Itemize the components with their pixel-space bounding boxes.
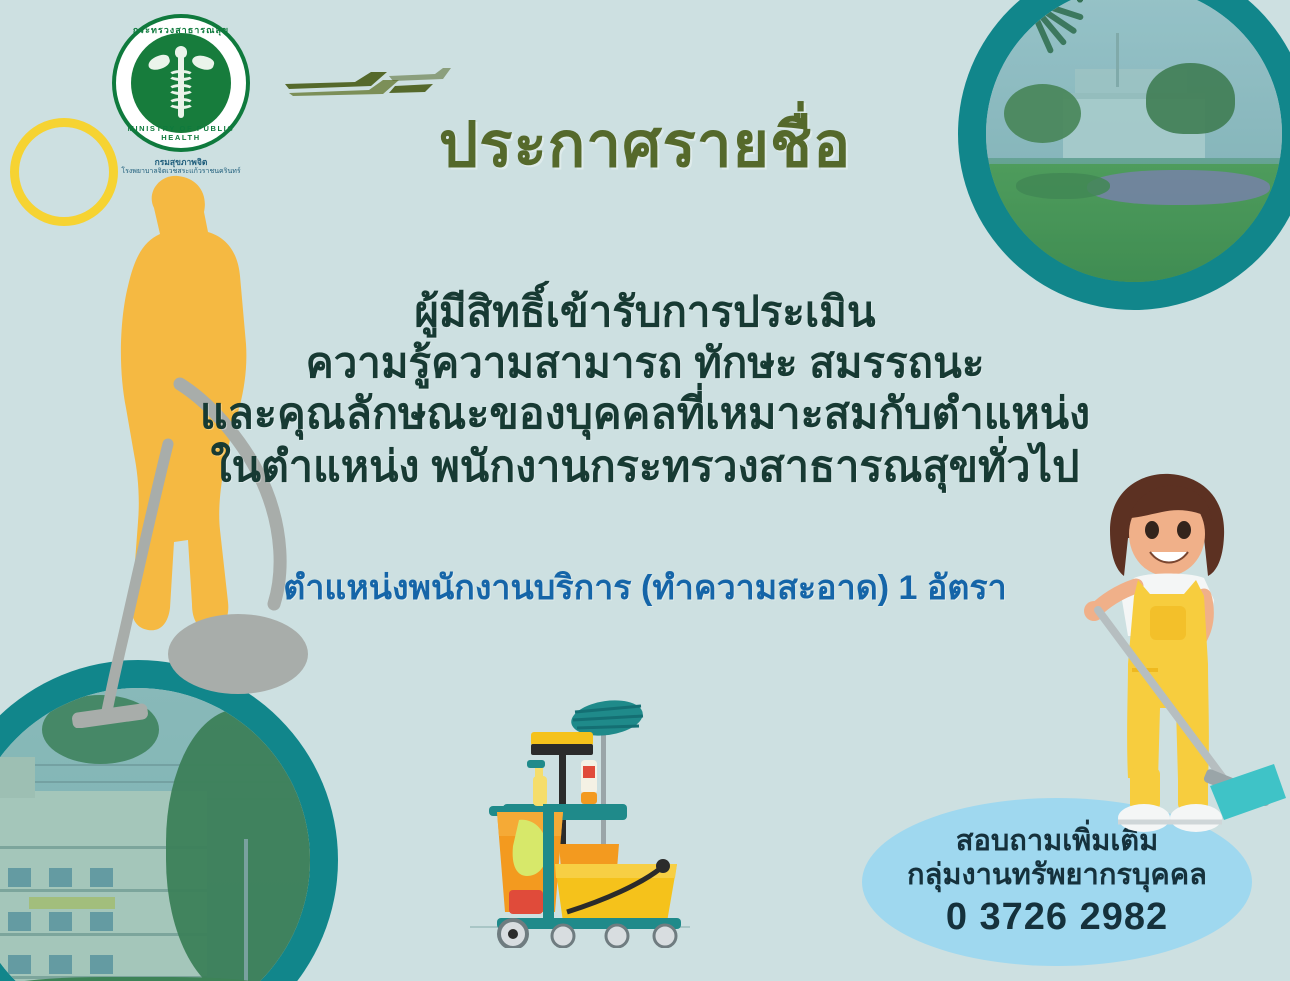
body-line-1: ผู้มีสิทธิ์เข้ารับการประเมิน — [0, 286, 1290, 337]
body-line-2: ความรู้ความสามารถ ทักษะ สมรรถนะ — [0, 337, 1290, 388]
cleaning-staff-illustration — [1058, 468, 1288, 850]
photo-teal-tint-2 — [0, 688, 310, 981]
janitorial-cart-illustration — [455, 686, 705, 948]
announcement-body: ผู้มีสิทธิ์เข้ารับการประเมิน ความรู้ความ… — [0, 286, 1290, 493]
page-title: ประกาศรายชื่อ — [0, 96, 1290, 194]
seal-thai-text: กระทรวงสาธารณสุข — [116, 23, 246, 37]
body-line-4: ในตำแหน่ง พนักงานกระทรวงสาธารณสุขทั่วไป — [0, 441, 1290, 493]
position-vacancy-line: ตำแหน่งพนักงานบริการ (ทำความสะอาด) 1 อัต… — [0, 560, 1290, 614]
body-line-3: และคุณลักษณะของบุคคลที่เหมาะสมกับตำแหน่ง — [0, 388, 1290, 440]
contact-phone-number: 0 3726 2982 — [946, 896, 1168, 939]
hospital-building-photo — [0, 688, 310, 981]
announcement-poster: กระทรวงสาธารณสุข MINISTRY OF PUBLIC HEAL… — [0, 0, 1290, 981]
contact-line-2: กลุ่มงานทรัพยากรบุคคล — [907, 859, 1207, 892]
